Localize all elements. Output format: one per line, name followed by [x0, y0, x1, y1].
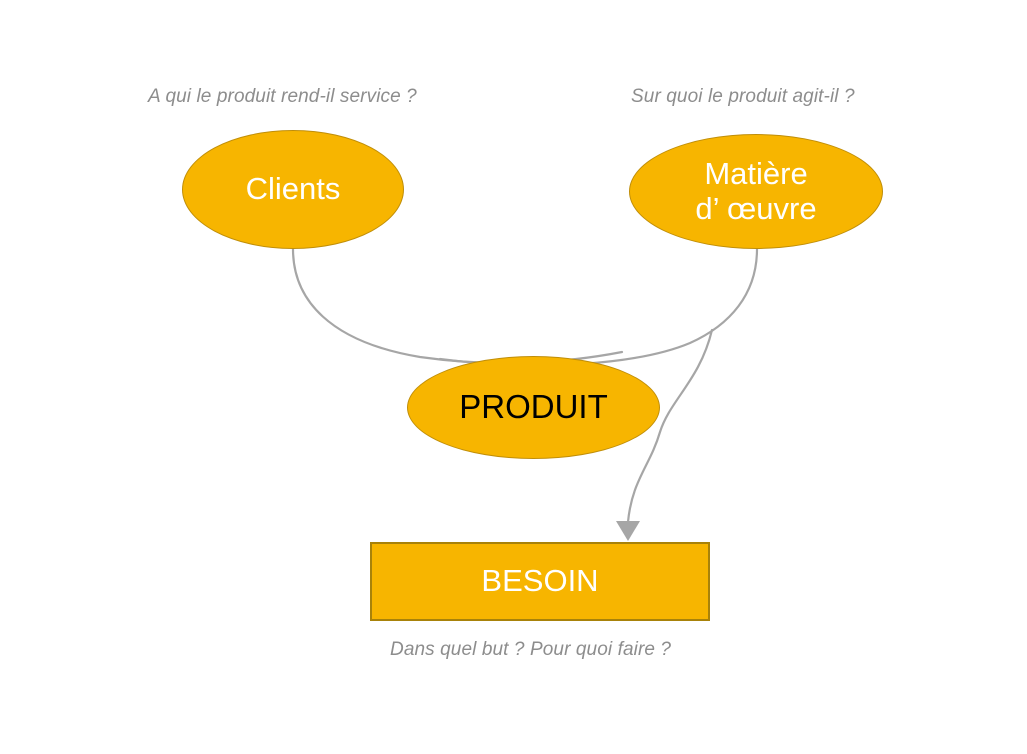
connector-clients-to-produit	[293, 249, 622, 363]
node-matiere-doeuvre[interactable]: Matière d’ œuvre	[629, 134, 883, 249]
diagram-canvas: A qui le produit rend-il service ? Sur q…	[0, 0, 1027, 754]
connector-matiere-to-produit	[440, 249, 757, 365]
caption-clients-question: A qui le produit rend-il service ?	[148, 86, 417, 108]
caption-matiere-question: Sur quoi le produit agit-il ?	[631, 86, 855, 108]
node-besoin[interactable]: BESOIN	[370, 542, 710, 621]
node-produit[interactable]: PRODUIT	[407, 356, 660, 459]
node-clients-label: Clients	[246, 172, 341, 207]
node-matiere-doeuvre-label: Matière d’ œuvre	[695, 157, 816, 226]
arrowhead-icon	[616, 521, 640, 541]
node-besoin-label: BESOIN	[481, 564, 598, 599]
node-clients[interactable]: Clients	[182, 130, 404, 249]
caption-besoin-question: Dans quel but ? Pour quoi faire ?	[390, 639, 671, 661]
node-produit-label: PRODUIT	[459, 389, 608, 426]
